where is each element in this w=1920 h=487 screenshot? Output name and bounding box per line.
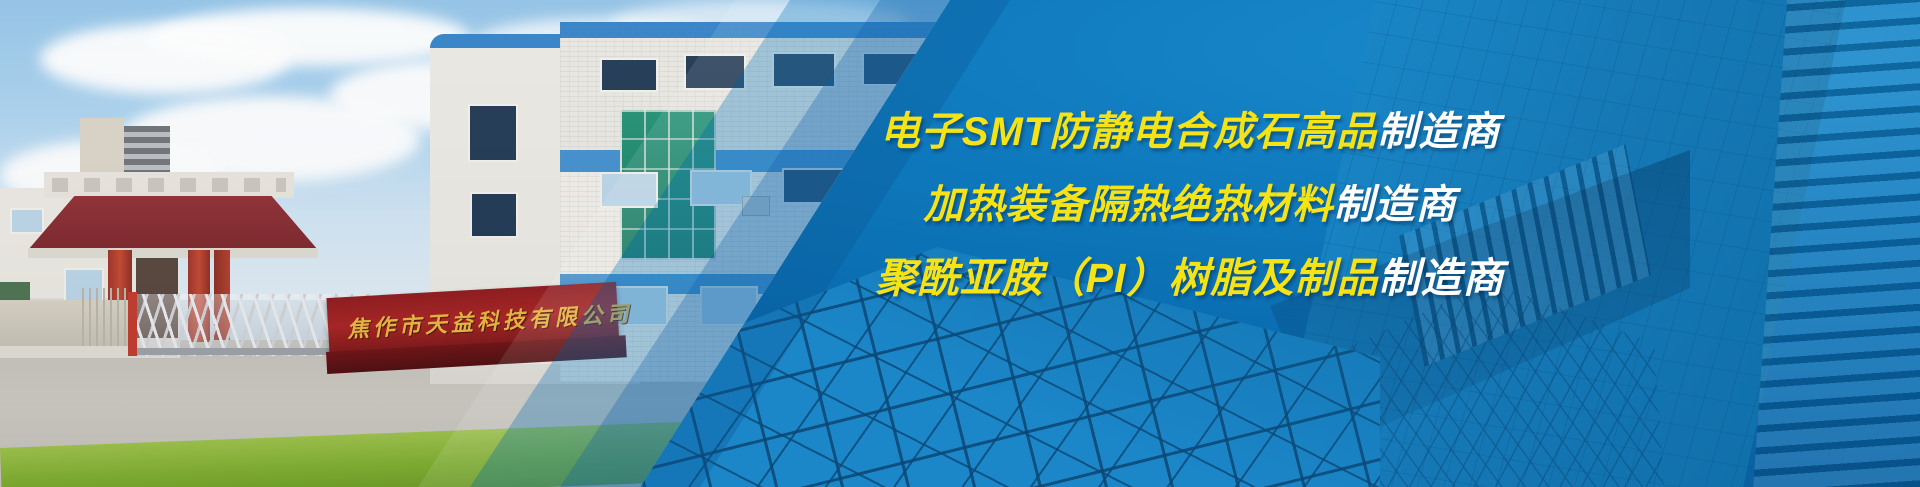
headline-2-highlight: 加热装备隔热绝热材料 <box>924 183 1334 227</box>
hero-banner: 焦作市天益科技有限公司 电子SMT防静电合成石高品制造商 加热装备隔热绝热材料制… <box>0 0 1920 487</box>
headline-2-suffix: 制造商 <box>1334 183 1457 227</box>
headline-1-highlight: 电子SMT防静电合成石高品 <box>880 110 1377 154</box>
headline-3-suffix: 制造商 <box>1378 255 1504 301</box>
headline-block: 电子SMT防静电合成石高品制造商 加热装备隔热绝热材料制造商 聚酰亚胺（PI）树… <box>690 112 1690 299</box>
headline-line-1: 电子SMT防静电合成石高品制造商 <box>690 112 1690 152</box>
headline-line-3: 聚酰亚胺（PI）树脂及制品制造商 <box>690 258 1690 299</box>
headline-1-suffix: 制造商 <box>1377 110 1500 154</box>
headline-line-2: 加热装备隔热绝热材料制造商 <box>690 185 1690 225</box>
headline-3-highlight: 聚酰亚胺（PI）树脂及制品 <box>876 255 1379 301</box>
